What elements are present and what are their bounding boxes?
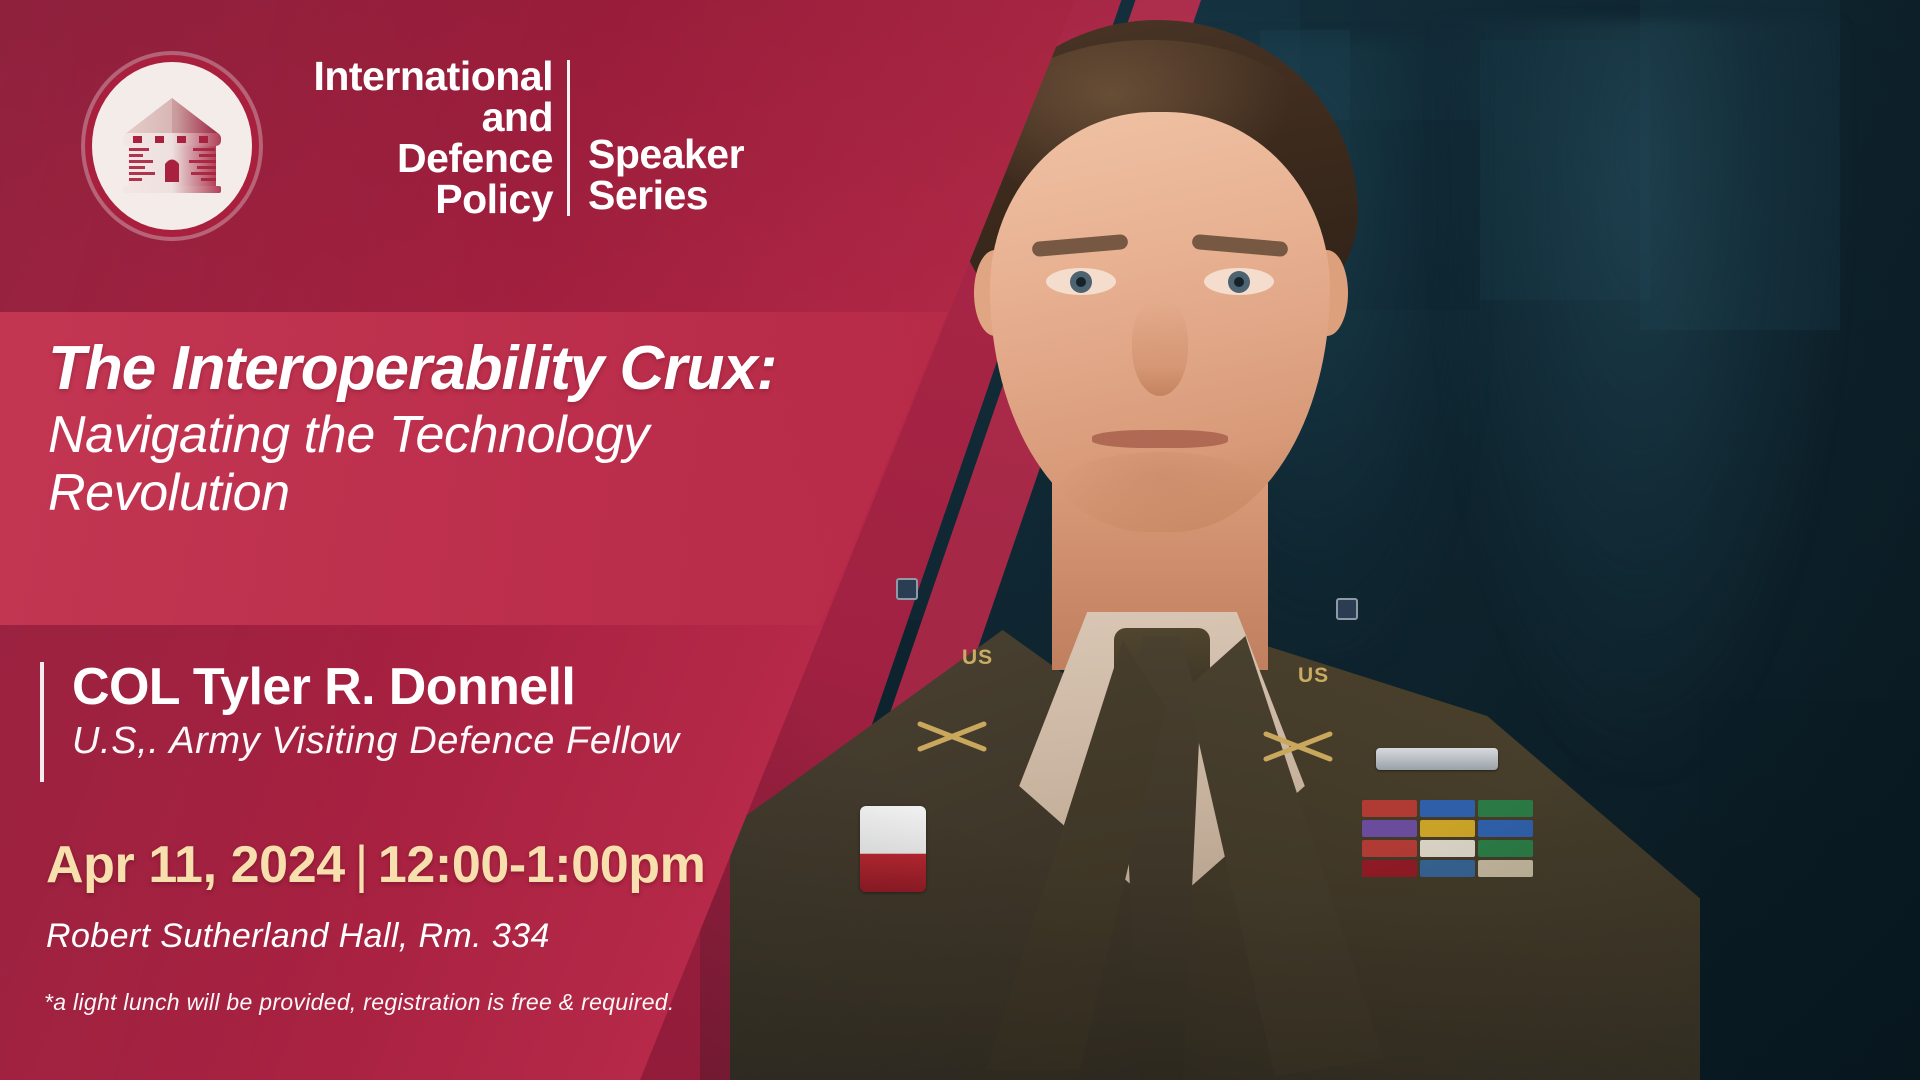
martello-tower-icon	[92, 62, 252, 230]
title-main: The Interoperability Crux:	[48, 336, 928, 402]
ribbon-rack	[1362, 800, 1538, 908]
service-ribbon	[1420, 800, 1475, 817]
speaker-name: COL Tyler R. Donnell	[72, 658, 852, 716]
series-name: Speaker Series	[588, 134, 888, 216]
qualification-badge	[1376, 748, 1498, 770]
event-poster: US US	[0, 0, 1920, 1080]
datetime-separator: |	[345, 836, 378, 894]
org-line-3: Defence	[288, 138, 553, 179]
portrait-eye-right	[1204, 268, 1274, 295]
speaker-accent-rule	[40, 662, 44, 782]
service-ribbon	[1362, 820, 1417, 837]
speaker-block: COL Tyler R. Donnell U.S,. Army Visiting…	[40, 658, 852, 764]
subtitle-line-2: Revolution	[48, 464, 928, 522]
portrait-nose	[1132, 300, 1188, 396]
portrait-mouth	[1092, 430, 1228, 448]
organisation-name: International and Defence Policy	[288, 56, 553, 220]
rank-insignia-left	[896, 578, 918, 600]
event-datetime: Apr 11, 2024|12:00-1:00pm	[46, 836, 866, 894]
service-ribbon	[1478, 820, 1533, 837]
service-ribbon	[1362, 840, 1417, 857]
service-ribbon	[1362, 800, 1417, 817]
event-location: Robert Sutherland Hall, Rm. 334	[46, 916, 866, 956]
series-line-1: Speaker	[588, 134, 888, 175]
event-title: The Interoperability Crux: Navigating th…	[48, 336, 928, 522]
crossed-rifles-insignia-left	[914, 716, 990, 756]
org-line-1: International	[288, 56, 553, 97]
speaker-role: U.S,. Army Visiting Defence Fellow	[72, 718, 852, 764]
wordmark-divider	[567, 60, 570, 216]
service-ribbon	[1420, 820, 1475, 837]
subtitle-line-1: Navigating the Technology	[48, 406, 928, 464]
event-time: 12:00-1:00pm	[378, 836, 706, 894]
service-ribbon	[1420, 840, 1475, 857]
us-collar-pin-left: US	[962, 646, 1006, 672]
org-line-4: Policy	[288, 179, 553, 220]
event-date: Apr 11, 2024	[46, 836, 345, 894]
series-line-2: Series	[588, 175, 888, 216]
brand-wordmark: International and Defence Policy Speaker…	[288, 56, 1088, 236]
event-note: *a light lunch will be provided, registr…	[44, 988, 944, 1016]
service-ribbon	[1478, 800, 1533, 817]
service-ribbon	[1420, 860, 1475, 877]
service-ribbon	[1478, 860, 1533, 877]
rank-insignia-right	[1336, 598, 1358, 620]
service-ribbon	[1478, 840, 1533, 857]
crossed-rifles-insignia-right	[1260, 726, 1336, 766]
portrait-chin-shadow	[1052, 452, 1268, 532]
org-line-2: and	[288, 97, 553, 138]
us-collar-pin-right: US	[1298, 664, 1342, 690]
unit-patch	[860, 806, 926, 892]
title-subtitle: Navigating the Technology Revolution	[48, 406, 928, 522]
poster-header: International and Defence Policy Speaker…	[0, 0, 1100, 312]
service-ribbon	[1362, 860, 1417, 877]
